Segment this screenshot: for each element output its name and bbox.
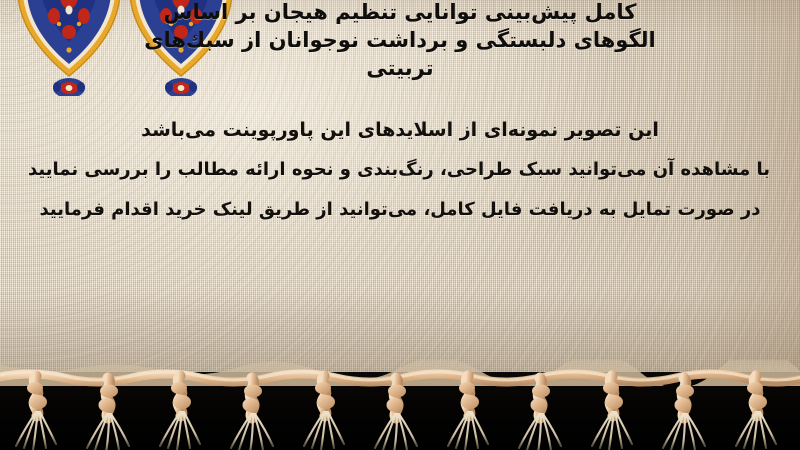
slide-title: کامل پیش‌بینی توانایی تنظیم هیجان بر اسا… bbox=[20, 0, 780, 82]
title-line-2: الگوهای دلبستگی و برداشت نوجوانان از سبك… bbox=[20, 26, 780, 54]
body-line-2: با مشاهده آن می‌توانید سبک طراحی، رنگ‌بن… bbox=[30, 150, 770, 190]
body-line-3: در صورت تمایل به دریافت فایل کامل، می‌تو… bbox=[30, 190, 770, 230]
fringe-black-band bbox=[0, 372, 800, 450]
body-line-1: این تصویر نمونه‌ای از اسلایدهای این پاور… bbox=[30, 110, 770, 150]
title-line-3: تربیتی bbox=[20, 54, 780, 82]
slide-canvas: کامل پیش‌بینی توانایی تنظیم هیجان بر اسا… bbox=[0, 0, 800, 450]
title-line-1: کامل پیش‌بینی توانایی تنظیم هیجان بر اسا… bbox=[20, 0, 780, 26]
slide-body: این تصویر نمونه‌ای از اسلایدهای این پاور… bbox=[30, 110, 770, 230]
slide-text-layer: کامل پیش‌بینی توانایی تنظیم هیجان بر اسا… bbox=[0, 0, 800, 372]
